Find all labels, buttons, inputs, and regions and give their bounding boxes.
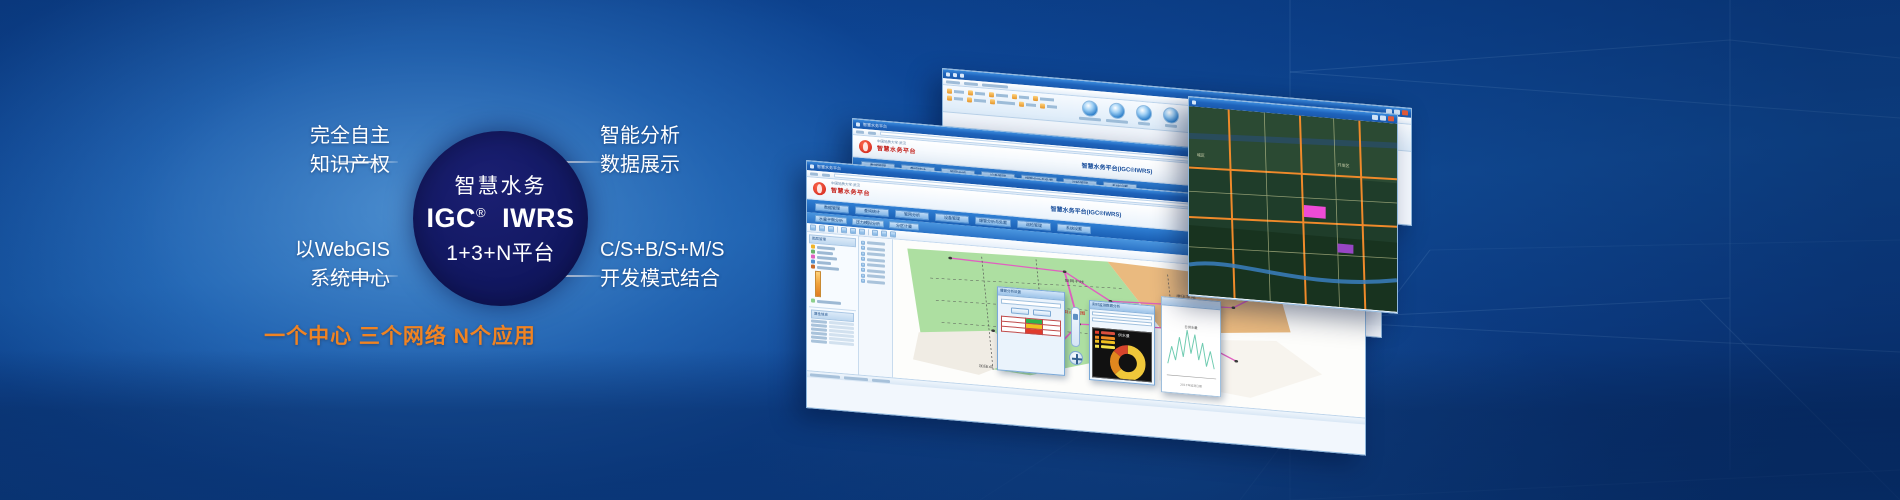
hub-product-igc: IGC [426, 203, 476, 233]
web-window-title: 智慧水务平台(IGC®IWRS) [1082, 161, 1153, 176]
leak-analysis-dialog[interactable]: 爆管分析设置 [997, 286, 1065, 376]
leak-dialog-body[interactable] [998, 295, 1064, 340]
nav-device-management[interactable]: 设备管理 [935, 212, 969, 223]
monitor-pie-chart: 供水量 [1092, 327, 1152, 382]
toolbar-separator [868, 229, 869, 235]
attribute-panel[interactable]: 属性信息 [809, 306, 856, 349]
identify-icon[interactable] [859, 229, 865, 236]
legend-icon[interactable] [890, 231, 896, 238]
zoom-in-icon[interactable] [819, 225, 825, 232]
layer-swatch-icon [811, 244, 815, 248]
city-map-graphics: 城区 开发区 [1189, 106, 1397, 312]
query-large-icon [1136, 104, 1152, 121]
ribbon-tab-file[interactable] [946, 80, 960, 84]
close-icon[interactable] [1402, 110, 1408, 116]
save-icon [968, 90, 973, 95]
minimize-icon[interactable] [1372, 115, 1378, 121]
close-icon[interactable] [1388, 116, 1394, 122]
layer-icon[interactable] [872, 230, 878, 237]
import-icon [989, 92, 994, 97]
maximize-icon[interactable] [1380, 115, 1386, 121]
status-coordinates [810, 373, 840, 379]
ribbon-large-button[interactable] [1106, 102, 1128, 124]
report-icon [861, 273, 865, 277]
nav-system-settings[interactable]: 系统设置 [1057, 223, 1091, 234]
map-tool-palette[interactable] [859, 237, 893, 378]
tool-label [867, 280, 885, 285]
device-manage-icon [1109, 102, 1125, 119]
ribbon-command[interactable] [968, 90, 985, 96]
window-controls[interactable] [1372, 115, 1394, 122]
tool-label [867, 274, 885, 279]
tool-label [867, 269, 885, 274]
feature-label-autonomy-line1: 完全自主 [140, 122, 390, 151]
hub-product-iwrs: IWRS [502, 203, 575, 233]
company-logo-icon [813, 182, 826, 196]
valve-icon [861, 251, 865, 255]
hub-platform-label: 1+3+N平台 [446, 237, 555, 267]
profile-icon [861, 257, 865, 261]
edit-icon [967, 97, 972, 102]
platform-hub-circle: 智慧水务 IGC® IWRS 1+3+N平台 [413, 131, 588, 306]
ribbon-large-button[interactable] [1079, 100, 1101, 122]
thematic-map-window[interactable]: 城区 开发区 [1188, 96, 1398, 314]
pan-direction-pad[interactable] [1069, 350, 1083, 365]
forward-icon[interactable] [822, 173, 830, 177]
ribbon-command[interactable] [967, 97, 986, 104]
window-icon [946, 72, 950, 76]
application-screenshot-stack: 智慧水务平台(IGC®IWRS) 智慧水务平台 中国地质大学·武汉 [790, 0, 1900, 500]
topology-icon [990, 99, 995, 104]
toolbar-separator [837, 227, 838, 233]
ribbon-command[interactable] [1040, 103, 1057, 109]
donut-chart: 供水量 [1093, 328, 1151, 381]
ribbon-large-button[interactable] [1133, 104, 1155, 126]
refresh-icon [947, 95, 952, 100]
select-icon[interactable] [841, 227, 847, 234]
hydrant-icon [861, 268, 865, 272]
layer-swatch-icon [811, 249, 815, 253]
map-icon [1192, 100, 1196, 104]
layer-swatch-icon [811, 254, 815, 258]
ribbon-tab-view[interactable] [964, 81, 978, 85]
hero-tagline: 一个中心 三个网络 N个应用 [140, 320, 660, 350]
query-icon [1019, 102, 1024, 107]
subnav-pressure-sim[interactable]: 压力模拟分析 [852, 218, 884, 228]
leak-query-button[interactable] [1011, 307, 1029, 315]
layer-tree-panel[interactable]: 图层管理 属性信息 [807, 232, 859, 374]
ribbon-command[interactable] [947, 95, 963, 101]
platform-diagram: 完全自主 知识产权 以WebGIS 系统中心 智能分析 数据展示 C/S+B/S… [0, 0, 800, 500]
hub-chinese-title: 智慧水务 [455, 170, 547, 200]
tool-label [867, 258, 885, 263]
company-logo-icon [859, 140, 872, 154]
feature-label-webgis-line2: 系统中心 [140, 265, 390, 294]
pipeline-info-icon [1082, 100, 1098, 117]
back-icon[interactable] [856, 130, 864, 134]
measure-icon[interactable] [850, 228, 856, 235]
feature-label-autonomy: 完全自主 知识产权 [140, 122, 390, 180]
stats-icon [1040, 103, 1045, 108]
buffer-icon [861, 240, 865, 244]
export-icon [861, 279, 865, 283]
print-icon [1033, 96, 1038, 101]
gis-window-title: 智慧水务平台(IGC®IWRS) [1051, 204, 1122, 219]
statistics-large-icon [1163, 107, 1179, 124]
layer-label [817, 299, 841, 304]
zoom-out-icon[interactable] [828, 226, 834, 233]
status-scale [844, 376, 868, 381]
ribbon-command[interactable] [1033, 96, 1054, 103]
layer-swatch-icon [811, 298, 815, 302]
leak-reset-button[interactable] [1033, 309, 1051, 317]
nav-network-analysis[interactable]: 管网分析 [895, 209, 929, 220]
attr-key [811, 339, 827, 343]
trend-line-chart: 日供水量 2017年监测日期 [1162, 305, 1220, 397]
browser-icon [856, 122, 860, 126]
ribbon-command[interactable] [990, 99, 1015, 106]
open-icon [947, 88, 952, 93]
ribbon-tab-data[interactable] [982, 83, 1008, 88]
tool-label [867, 241, 885, 246]
app-icon [810, 164, 814, 168]
ribbon-command[interactable] [989, 92, 1008, 99]
layer-swatch-icon [811, 259, 815, 263]
registered-mark-icon: ® [476, 205, 486, 220]
ribbon-command[interactable] [947, 88, 964, 94]
layer-label [817, 265, 839, 270]
feature-label-webgis: 以WebGIS 系统中心 [140, 236, 390, 294]
ribbon-command[interactable] [1012, 94, 1029, 100]
nav-inspection[interactable]: 巡检管理 [1017, 219, 1051, 230]
feature-label-webgis-line1: 以WebGIS [140, 236, 390, 265]
back-icon[interactable] [810, 172, 818, 176]
subnav-water-balance[interactable]: 水量平衡分析 [815, 215, 847, 225]
svg-text:开发区: 开发区 [1338, 162, 1350, 168]
undo-icon[interactable] [960, 73, 964, 77]
zoom-slider-knob[interactable] [1073, 314, 1078, 320]
save-icon[interactable] [953, 72, 957, 76]
tool-item[interactable] [861, 279, 890, 285]
hub-product-name: IGC® IWRS [426, 203, 574, 234]
layer-tree-item[interactable] [811, 298, 856, 306]
leak-result-table [1001, 316, 1061, 337]
tool-label [867, 263, 885, 268]
forward-icon[interactable] [868, 131, 876, 135]
hero-banner: 完全自主 知识产权 以WebGIS 系统中心 智能分析 数据展示 C/S+B/S… [0, 0, 1900, 500]
layer-swatch-icon [811, 264, 815, 268]
subnav-district-metering[interactable]: 分区计量 [889, 221, 919, 231]
export-icon [1012, 94, 1017, 99]
zoom-slider[interactable] [1071, 307, 1080, 348]
ribbon-command[interactable] [1019, 102, 1036, 108]
pie-title: 供水量 [1118, 332, 1130, 338]
trend-chart-window[interactable]: 日供水量 2017年监测日期 [1161, 296, 1221, 397]
nav-burst-analysis[interactable]: 爆管分析与处置 [975, 216, 1011, 227]
realtime-monitor-dialog[interactable]: 实时监测数据分析 [1089, 300, 1155, 386]
ribbon-large-button[interactable] [1160, 107, 1182, 129]
legend-gradient-bar [815, 271, 821, 298]
svg-text:城区: 城区 [1197, 152, 1205, 158]
flow-icon [861, 262, 865, 266]
nav-query-statistics[interactable]: 查询统计 [855, 206, 889, 217]
trace-icon [861, 246, 865, 250]
print-icon[interactable] [881, 230, 887, 237]
tool-label [867, 252, 885, 257]
tool-label [867, 247, 885, 252]
layer-label [817, 260, 831, 264]
feature-label-autonomy-line2: 知识产权 [140, 151, 390, 180]
thematic-map-canvas[interactable]: 城区 开发区 [1189, 106, 1397, 314]
nav-data-management[interactable]: 数据管理 [815, 202, 849, 213]
status-mode [872, 378, 890, 383]
pan-icon[interactable] [810, 224, 816, 231]
